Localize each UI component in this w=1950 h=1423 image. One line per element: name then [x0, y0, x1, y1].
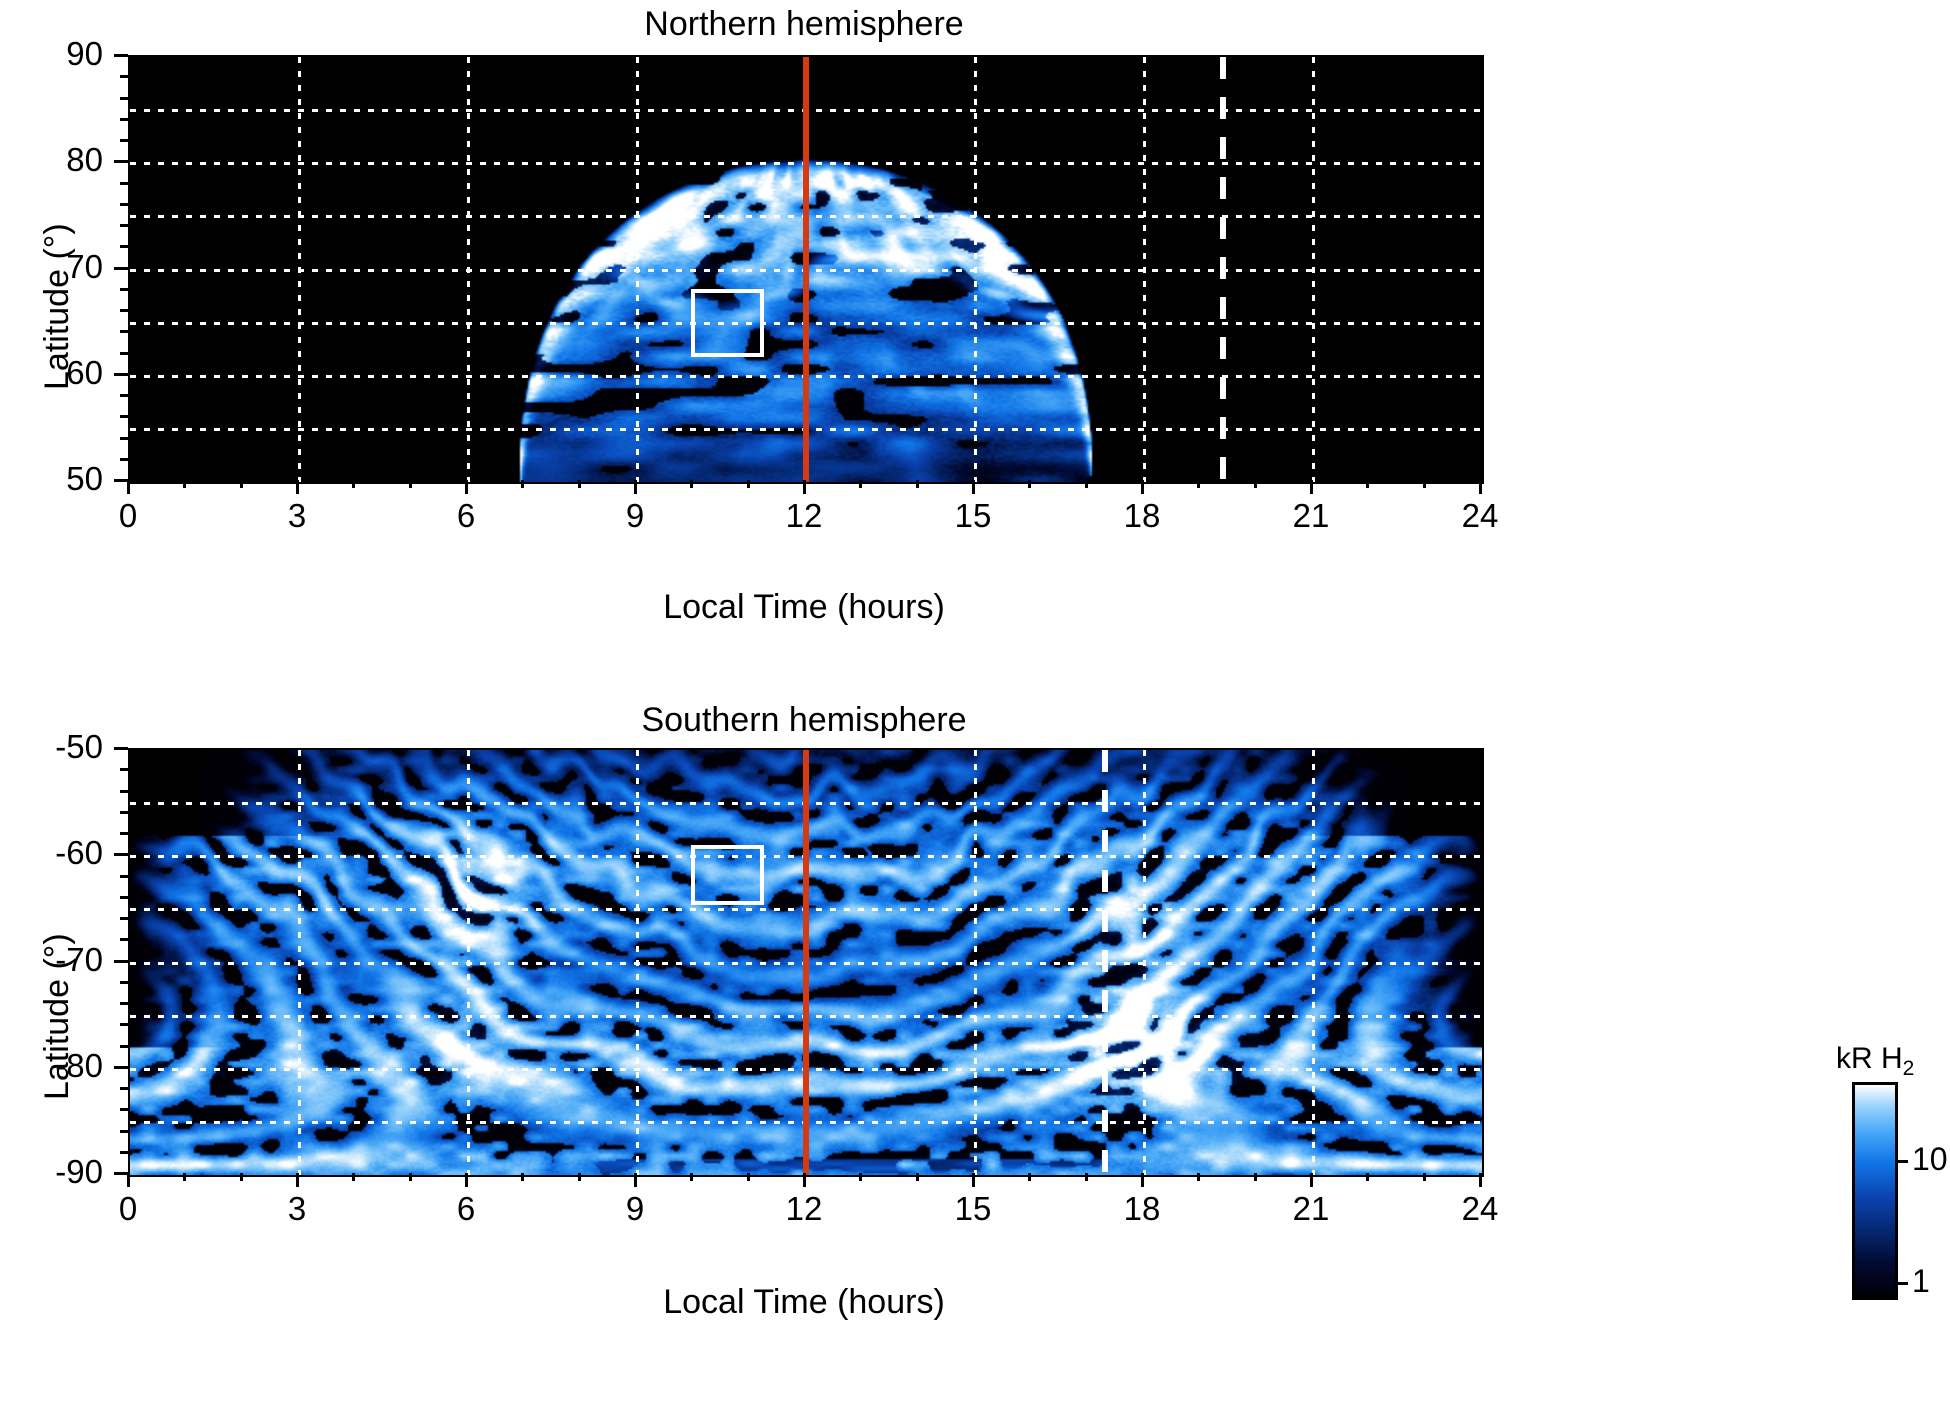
y-tick-minor	[120, 415, 128, 418]
y-tick-minor	[120, 1108, 128, 1111]
y-tick-minor	[120, 811, 128, 814]
y-tick-minor	[120, 182, 128, 185]
y-tick-minor	[120, 245, 128, 248]
y-tick-minor	[120, 139, 128, 142]
x-tick-minor	[690, 1173, 693, 1181]
x-tick-major	[465, 1173, 468, 1187]
x-tick-label: 18	[1102, 1191, 1182, 1227]
y-tick-label: 80	[0, 142, 103, 178]
x-tick-minor	[859, 1173, 862, 1181]
x-tick-major	[1141, 1173, 1144, 1187]
y-tick-minor	[120, 1045, 128, 1048]
y-tick-minor	[120, 97, 128, 100]
x-tick-major	[127, 1173, 130, 1187]
y-tick-minor	[120, 458, 128, 461]
x-tick-minor	[409, 480, 412, 488]
x-tick-label: 9	[595, 1191, 675, 1227]
y-tick-minor	[120, 352, 128, 355]
x-tick-label: 9	[595, 498, 675, 534]
y-tick-minor	[120, 224, 128, 227]
y-tick-label: -80	[0, 1048, 103, 1084]
y-tick-minor	[120, 832, 128, 835]
x-tick-minor	[183, 1173, 186, 1181]
colorbar-title-text: kR H	[1836, 1042, 1903, 1075]
x-tick-label: 0	[88, 1191, 168, 1227]
x-tick-major	[296, 1173, 299, 1187]
panel-south-plot-area	[128, 748, 1484, 1177]
y-tick-major	[114, 479, 128, 482]
y-tick-major	[114, 747, 128, 750]
panel-south-terminator-line	[1102, 750, 1108, 1175]
panel-north-roi-box	[691, 289, 764, 357]
x-tick-minor	[521, 1173, 524, 1181]
panel-north-title: Northern hemisphere	[128, 4, 1480, 44]
x-tick-minor	[690, 480, 693, 488]
panel-south-x-axis-title: Local Time (hours)	[128, 1283, 1480, 1321]
x-tick-label: 12	[764, 498, 844, 534]
colorbar-tick-1	[1898, 1282, 1908, 1285]
y-tick-label: -90	[0, 1154, 103, 1190]
x-tick-minor	[352, 480, 355, 488]
y-tick-major	[114, 54, 128, 57]
y-tick-label: -60	[0, 835, 103, 871]
y-tick-minor	[120, 875, 128, 878]
x-tick-minor	[1085, 1173, 1088, 1181]
panel-north-x-axis-title: Local Time (hours)	[128, 588, 1480, 626]
y-tick-minor	[120, 1087, 128, 1090]
x-tick-minor	[1197, 1173, 1200, 1181]
x-tick-minor	[1423, 480, 1426, 488]
x-tick-major	[803, 1173, 806, 1187]
y-tick-label: 70	[0, 249, 103, 285]
x-tick-major	[1141, 480, 1144, 494]
x-tick-label: 24	[1440, 498, 1520, 534]
y-tick-minor	[120, 330, 128, 333]
colorbar-tick-10	[1898, 1160, 1908, 1163]
panel-south-title: Southern hemisphere	[128, 700, 1480, 740]
y-tick-label: -70	[0, 942, 103, 978]
y-tick-minor	[120, 1151, 128, 1154]
x-tick-major	[465, 480, 468, 494]
panel-north-terminator-line	[1220, 57, 1226, 482]
y-tick-minor	[120, 938, 128, 941]
x-tick-major	[1310, 480, 1313, 494]
y-tick-major	[114, 853, 128, 856]
panel-north-noon-line	[803, 57, 809, 482]
x-tick-label: 3	[257, 1191, 337, 1227]
y-tick-minor	[120, 1023, 128, 1026]
x-tick-label: 15	[933, 498, 1013, 534]
colorbar-title: kR H2	[1836, 1042, 1914, 1086]
y-tick-major	[114, 160, 128, 163]
x-tick-minor	[352, 1173, 355, 1181]
y-tick-minor	[120, 917, 128, 920]
x-tick-major	[1310, 1173, 1313, 1187]
x-tick-minor	[1423, 1173, 1426, 1181]
panel-north: Northern hemisphere Latitude (°) 0369121…	[0, 0, 1950, 700]
x-tick-minor	[578, 1173, 581, 1181]
x-tick-minor	[1366, 480, 1369, 488]
x-tick-minor	[1197, 480, 1200, 488]
x-tick-label: 21	[1271, 498, 1351, 534]
panel-north-plot-area	[128, 55, 1484, 484]
y-tick-major	[114, 267, 128, 270]
x-tick-label: 3	[257, 498, 337, 534]
y-tick-major	[114, 373, 128, 376]
x-tick-major	[972, 1173, 975, 1187]
y-tick-minor	[120, 896, 128, 899]
y-tick-minor	[120, 75, 128, 78]
panel-south: Southern hemisphere Latitude (°) 0369121…	[0, 700, 1950, 1423]
x-tick-label: 15	[933, 1191, 1013, 1227]
x-tick-minor	[916, 1173, 919, 1181]
x-tick-minor	[916, 480, 919, 488]
y-tick-label: 50	[0, 461, 103, 497]
x-tick-minor	[1028, 480, 1031, 488]
x-tick-minor	[747, 480, 750, 488]
x-tick-minor	[1085, 480, 1088, 488]
y-tick-minor	[120, 437, 128, 440]
x-tick-minor	[578, 480, 581, 488]
y-tick-minor	[120, 1002, 128, 1005]
y-tick-minor	[120, 118, 128, 121]
x-tick-minor	[1254, 1173, 1257, 1181]
colorbar-title-subscript: 2	[1903, 1057, 1915, 1080]
y-tick-major	[114, 1172, 128, 1175]
x-tick-major	[296, 480, 299, 494]
panel-south-roi-box	[691, 845, 764, 906]
colorbar-gradient	[1852, 1082, 1898, 1300]
x-tick-label: 6	[426, 1191, 506, 1227]
x-tick-major	[972, 480, 975, 494]
x-tick-minor	[1028, 1173, 1031, 1181]
y-tick-label: 90	[0, 36, 103, 72]
y-tick-minor	[120, 981, 128, 984]
panel-south-noon-line	[803, 750, 809, 1175]
x-tick-major	[127, 480, 130, 494]
x-tick-minor	[240, 1173, 243, 1181]
colorbar: kR H2 10 1	[1790, 1020, 1950, 1340]
x-tick-major	[803, 480, 806, 494]
x-tick-minor	[1366, 1173, 1369, 1181]
y-tick-minor	[120, 203, 128, 206]
x-tick-label: 21	[1271, 1191, 1351, 1227]
x-tick-label: 12	[764, 1191, 844, 1227]
y-tick-label: -50	[0, 729, 103, 765]
x-tick-minor	[183, 480, 186, 488]
x-tick-minor	[747, 1173, 750, 1181]
x-tick-minor	[409, 1173, 412, 1181]
x-tick-major	[1479, 1173, 1482, 1187]
x-tick-major	[1479, 480, 1482, 494]
y-tick-label: 60	[0, 355, 103, 391]
x-tick-minor	[521, 480, 524, 488]
y-tick-major	[114, 1066, 128, 1069]
x-tick-label: 24	[1440, 1191, 1520, 1227]
x-tick-minor	[1254, 480, 1257, 488]
x-tick-major	[634, 1173, 637, 1187]
x-tick-label: 18	[1102, 498, 1182, 534]
x-tick-label: 6	[426, 498, 506, 534]
y-tick-minor	[120, 309, 128, 312]
y-tick-minor	[120, 1130, 128, 1133]
y-tick-major	[114, 960, 128, 963]
x-tick-major	[634, 480, 637, 494]
y-tick-minor	[120, 394, 128, 397]
colorbar-label-1: 1	[1912, 1264, 1930, 1298]
x-tick-label: 0	[88, 498, 168, 534]
y-tick-minor	[120, 790, 128, 793]
x-tick-minor	[240, 480, 243, 488]
y-tick-minor	[120, 288, 128, 291]
y-tick-minor	[120, 768, 128, 771]
colorbar-label-10: 10	[1912, 1142, 1948, 1176]
figure-root: Northern hemisphere Latitude (°) 0369121…	[0, 0, 1950, 1423]
x-tick-minor	[859, 480, 862, 488]
